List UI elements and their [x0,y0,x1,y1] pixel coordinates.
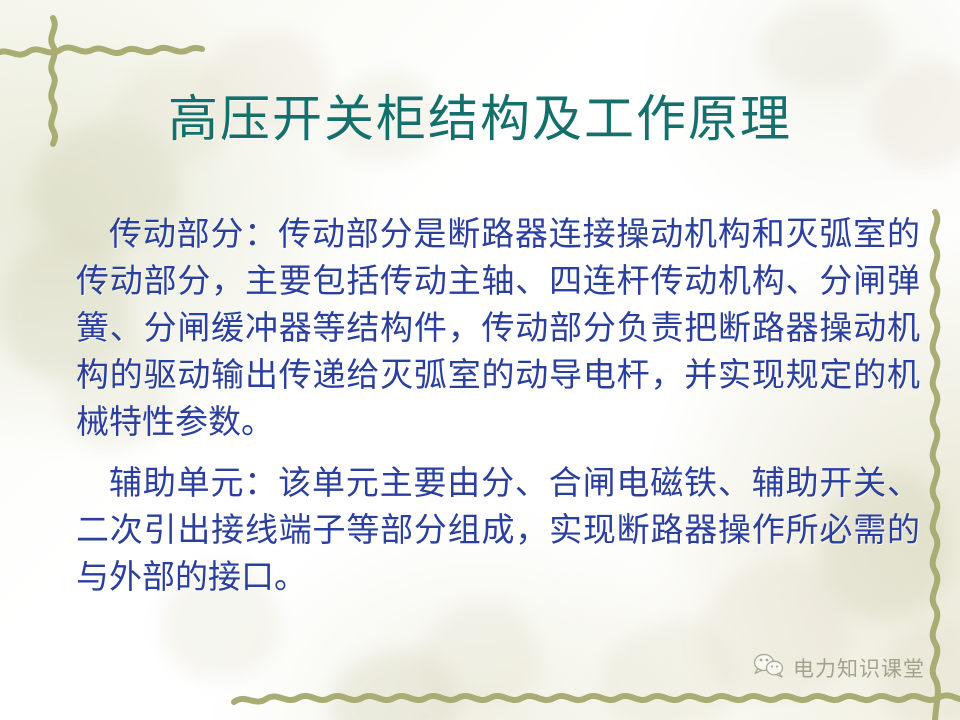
paragraph-auxiliary-unit: 辅助单元：该单元主要由分、合闸电磁铁、辅助开关、二次引出接线端子等部分组成，实现… [76,461,920,602]
body-content: 传动部分：传动部分是断路器连接操动机构和灭弧室的传动部分，主要包括传动主轴、四连… [76,212,920,602]
paragraph-transmission-part: 传动部分：传动部分是断路器连接操动机构和灭弧室的传动部分，主要包括传动主轴、四连… [76,212,920,447]
page-title: 高压开关柜结构及工作原理 [0,92,960,147]
slide-canvas: 高压开关柜结构及工作原理 传动部分：传动部分是断路器连接操动机构和灭弧室的传动部… [0,0,960,720]
wechat-bubble-icon [752,652,786,683]
watermark: 电力知识课堂 [752,652,925,683]
watermark-label: 电力知识课堂 [793,653,925,683]
